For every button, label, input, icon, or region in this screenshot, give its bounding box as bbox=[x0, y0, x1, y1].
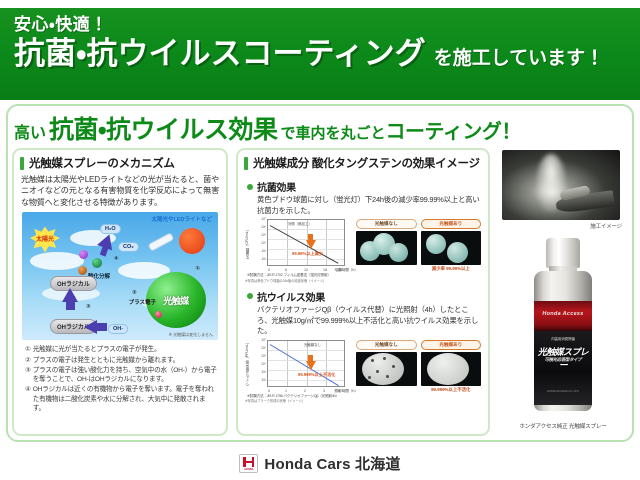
subtitle-middle: で車内を丸ごと bbox=[281, 122, 386, 143]
step-text: OHラジカルは近くの有機物から電子を奪います。電子を奪われた有機物は二酸化炭素や… bbox=[33, 385, 217, 414]
panel-mechanism: 光触媒スプレーのメカニズム 光触媒は太陽光やLEDライトなどの光が当たると、菌や… bbox=[12, 148, 228, 436]
subtitle-prefix: 高い bbox=[14, 119, 46, 143]
product-bottle: Honda Access 内装用消臭除菌 光触媒スプレー 可視光応答型タイプ H… bbox=[530, 238, 596, 416]
step-item: ② プラスの電子は発生とともに光触媒から離れます。 bbox=[25, 356, 217, 366]
particle-dot bbox=[92, 258, 102, 268]
grid-line bbox=[268, 370, 344, 371]
step-mark-3: ③ bbox=[86, 304, 91, 310]
chart-plot-area: 光触媒なし 99.999%以上不活化 0 1 2 3 4 照射時間（h） bbox=[267, 340, 345, 387]
plaque-dot bbox=[376, 370, 379, 373]
footer-bar: HONDA Honda Cars 北海道 bbox=[0, 446, 640, 480]
chart-y-tick: 10⁴ bbox=[261, 241, 266, 245]
bullet-dot-icon bbox=[247, 184, 253, 190]
panel-mechanism-title: 光触媒スプレーのメカニズム bbox=[29, 155, 175, 171]
header-title-tail: を施工しています！ bbox=[434, 43, 604, 70]
bottle-body: Honda Access 内装用消臭除菌 光触媒スプレー 可視光応答型タイプ H… bbox=[534, 271, 592, 411]
step-number: ④ bbox=[25, 385, 31, 414]
honda-logo-icon: HONDA bbox=[239, 454, 258, 473]
petri-dish-photo bbox=[356, 231, 417, 265]
antiviral-chart: ウイルス感染価（PFU/mL） 10⁷ 10⁶ 10⁵ 10⁴ 10³ 10² bbox=[247, 340, 351, 398]
step-text: 光触媒に光が当たるとプラスの電子が発生。 bbox=[33, 345, 217, 355]
antiviral-samples: 光触媒なし 光触媒あり bbox=[356, 340, 481, 393]
decrease-arrow-icon bbox=[306, 361, 316, 370]
header-title-main: 抗菌・抗ウイルスコーティング bbox=[14, 37, 426, 71]
step-number: ③ bbox=[25, 366, 31, 385]
chart-x-tick: 1 bbox=[285, 389, 287, 393]
chart-y-tick: 10⁵ bbox=[261, 233, 266, 237]
chart-annotation-top: 光触媒なし bbox=[304, 342, 321, 347]
chart-x-tick: 12 bbox=[304, 268, 308, 272]
colony-shape bbox=[426, 234, 446, 254]
effect-heading-antiviral: 抗ウイルス効果 bbox=[247, 289, 481, 304]
bottle-label-sub: 可視光応答型タイプ bbox=[534, 357, 592, 363]
step-item: ④ OHラジカルは近くの有機物から電子を奪います。電子を奪われた有機物は二酸化炭… bbox=[25, 385, 217, 414]
chart-x-tick: 2 bbox=[304, 389, 306, 393]
panel-effects-header: 光触媒成分 酸化タングステンの効果イメージ bbox=[238, 150, 488, 174]
step-item: ① 光触媒に光が当たるとプラスの電子が発生。 bbox=[25, 345, 217, 355]
chart-annotation-top: 対照（無加工） bbox=[288, 221, 312, 226]
chart-y-tick: 10⁶ bbox=[261, 225, 266, 229]
accent-bar-icon bbox=[244, 157, 248, 170]
oh-minus-bubble: OH- bbox=[108, 324, 128, 334]
colony-shape bbox=[389, 243, 408, 262]
chart-x-label: 照射時間（h） bbox=[334, 389, 358, 394]
step-mark-4: ④ bbox=[114, 256, 119, 262]
panel-product: 施工イメージ Honda Access 内装用消臭除菌 光触媒スプレー 可視光応… bbox=[498, 148, 628, 436]
chart-y-tick: 10² bbox=[261, 257, 266, 261]
effect-evidence-row: 生菌数（CFU/mL） 10⁷ 10⁶ 10⁵ 10⁴ 10³ 10² bbox=[247, 219, 481, 277]
diagram-note: ※ 光触媒は変化しません bbox=[169, 332, 213, 338]
arrow-left-icon bbox=[84, 320, 97, 334]
chart-annotation-result: 99.999%以上不活化 bbox=[298, 372, 335, 378]
panel-mechanism-header: 光触媒スプレーのメカニズム bbox=[14, 150, 226, 174]
sample-footnote: ※写真は黄色ブドウ球菌の24h後の培養状態（イメージ） bbox=[245, 280, 481, 284]
bottle-label-footer: HONDA ACCESS CO.,LTD. bbox=[534, 389, 592, 393]
chart-caption: ※試験方法：JIS R 1702 フィルム密着法（蛍光灯照射） bbox=[247, 273, 351, 277]
chart-x-tick: 0 bbox=[268, 268, 270, 272]
honda-logo-crossbar bbox=[243, 461, 254, 463]
plaque-dot bbox=[386, 375, 389, 378]
chart-caption: ※試験方法：JIS R 1756 バクテリオファージQβ（光照射4h） bbox=[247, 394, 351, 398]
particle-dot bbox=[79, 250, 88, 259]
arrow-up-icon bbox=[62, 288, 78, 302]
panel-effects-title: 光触媒成分 酸化タングステンの効果イメージ bbox=[253, 155, 480, 171]
effect-heading-antibacterial: 抗菌効果 bbox=[247, 179, 481, 194]
plaque-dot bbox=[371, 359, 374, 362]
header-title-row: 抗菌・抗ウイルスコーティング を施工しています！ bbox=[14, 37, 640, 71]
colony-shape bbox=[447, 242, 468, 263]
chart-y-label: ウイルス感染価（PFU/mL） bbox=[246, 342, 260, 386]
photocatalyst-label: 光触媒 bbox=[163, 294, 189, 307]
chart-y-tick: 10⁶ bbox=[261, 346, 266, 350]
bottle-cap bbox=[546, 238, 580, 268]
chart-y-tick: 10³ bbox=[261, 249, 266, 253]
plaque-dish-photo bbox=[421, 352, 482, 386]
mechanism-steps: ① 光触媒に光が当たるとプラスの電子が発生。 ② プラスの電子は発生とともに光触… bbox=[21, 345, 219, 413]
accent-bar-icon bbox=[20, 157, 24, 170]
photocatalyst-diagram: 太陽光 太陽光やLEDライトなど H₂O CO₂ 酸化分解 ④ ① ② ③ OH… bbox=[22, 212, 218, 340]
sample-column: 光触媒なし bbox=[356, 219, 417, 272]
subtitle-emphasis: 抗菌・抗ウイルス効果 bbox=[49, 110, 278, 146]
sample-column: 光触媒あり 減少率 99.99%以上 bbox=[421, 219, 482, 272]
led-light-label: 太陽光やLEDライトなど bbox=[151, 215, 212, 223]
sample-tag: 光触媒あり bbox=[421, 219, 482, 229]
co2-bubble: CO₂ bbox=[118, 242, 139, 252]
plus-electron-label: プラス電子 bbox=[129, 298, 156, 306]
header-banner: 安心・快適！ 抗菌・抗ウイルスコーティング を施工しています！ bbox=[0, 8, 640, 100]
panel-effects: 光触媒成分 酸化タングステンの効果イメージ 抗菌効果 黄色ブドウ球菌に対し（蛍光… bbox=[236, 148, 490, 436]
sun-label: 太陽光 bbox=[30, 234, 60, 243]
chart-x-tick: 0 bbox=[268, 389, 270, 393]
step-number: ② bbox=[25, 356, 31, 366]
step-mark-2: ② bbox=[132, 290, 137, 296]
effect-evidence-row: ウイルス感染価（PFU/mL） 10⁷ 10⁶ 10⁵ 10⁴ 10³ 10² bbox=[247, 340, 481, 398]
bottle-caption: ホンダアクセス純正 光触媒スプレー bbox=[498, 422, 628, 430]
panel-mechanism-body: 光触媒は太陽光やLEDライトなどの光が当たると、菌やニオイなどの元となる有害物質… bbox=[14, 174, 226, 414]
antibacterial-chart: 生菌数（CFU/mL） 10⁷ 10⁶ 10⁵ 10⁴ 10³ 10² bbox=[247, 219, 351, 277]
step-number: ① bbox=[25, 345, 31, 355]
plaque-dot bbox=[368, 376, 371, 379]
effect-description: バクテリオファージQβ（ウイルス代替）に光照射（4h）したところ、光触媒10g/… bbox=[257, 305, 481, 337]
plaque-dish-photo bbox=[356, 352, 417, 386]
poster-root: 安心・快適！ 抗菌・抗ウイルスコーティング を施工しています！ 高い 抗菌・抗ウ… bbox=[0, 0, 640, 480]
effect-description: 黄色ブドウ球菌に対し（蛍光灯）下24h後の減少率99.99%以上と高い抗菌力を示… bbox=[257, 195, 481, 216]
subtitle-emphasis-2: コーティング bbox=[386, 115, 502, 144]
led-lamp-icon bbox=[179, 228, 205, 254]
sample-footnote: ※写真はプラーク形成の状態（イメージ） bbox=[245, 400, 481, 404]
step-text: プラスの電子は発生とともに光触媒から離れます。 bbox=[33, 356, 217, 366]
decrease-arrow-icon bbox=[306, 240, 316, 249]
bullet-dot-icon bbox=[247, 293, 253, 299]
spray-application-photo bbox=[502, 150, 620, 220]
effect-title: 抗ウイルス効果 bbox=[257, 289, 325, 304]
led-tube-icon bbox=[148, 233, 175, 252]
step-text: プラスの電子は強い酸化力を持ち、空気中の水（OH-）から電子を奪うことで、OH-… bbox=[33, 366, 217, 385]
chart-y-tick: 10³ bbox=[261, 370, 266, 374]
sample-tag: 光触媒なし bbox=[356, 219, 417, 229]
particle-dot bbox=[78, 266, 87, 275]
chart-x-label: 培養時間（h） bbox=[334, 268, 358, 273]
sample-result: 減少率 99.99%以上 bbox=[421, 266, 482, 272]
dish-shape bbox=[427, 353, 469, 385]
sample-tag: 光触媒なし bbox=[356, 340, 417, 350]
panel-effects-body: 抗菌効果 黄色ブドウ球菌に対し（蛍光灯）下24h後の減少率99.99%以上と高い… bbox=[238, 179, 488, 404]
honda-logo-wordmark: HONDA bbox=[241, 468, 256, 471]
chart-y-tick: 10² bbox=[261, 378, 266, 382]
cloud-shape bbox=[30, 252, 84, 270]
sample-column: 光触媒なし bbox=[356, 340, 417, 393]
chart-y-tick: 10⁷ bbox=[261, 338, 266, 342]
chart-x-tick: 3 bbox=[323, 389, 325, 393]
sample-tag: 光触媒あり bbox=[421, 340, 482, 350]
bottle-label-small: 内装用消臭除菌 bbox=[534, 337, 592, 342]
effect-title: 抗菌効果 bbox=[257, 179, 296, 194]
step-item: ③ プラスの電子は強い酸化力を持ち、空気中の水（OH-）から電子を奪うことで、O… bbox=[25, 366, 217, 385]
chart-x-tick: 18 bbox=[323, 268, 327, 272]
plaque-dot bbox=[383, 357, 386, 360]
chart-annotation-result: 99.99%以上減少 bbox=[292, 251, 323, 257]
chart-trend-line bbox=[270, 226, 339, 265]
antibacterial-samples: 光触媒なし 光触媒あり 減少 bbox=[356, 219, 481, 272]
chart-y-tick: 10⁴ bbox=[261, 362, 266, 366]
header-tagline: 安心・快適！ bbox=[14, 14, 640, 35]
dealer-name: Honda Cars 北海道 bbox=[264, 453, 400, 474]
chart-y-tick: 10⁵ bbox=[261, 354, 266, 358]
sample-result: 99.999%以上不活化 bbox=[421, 387, 482, 393]
sample-column: 光触媒あり 99.999%以上不活化 bbox=[421, 340, 482, 393]
mechanism-description: 光触媒は太陽光やLEDライトなどの光が当たると、菌やニオイなどの元となる有害物質… bbox=[21, 174, 219, 208]
chart-plot-area: 対照（無加工） 99.99%以上減少 0 6 12 18 24 培養時間（h） bbox=[267, 219, 345, 266]
subtitle-suffix: ！ bbox=[501, 115, 521, 144]
spray-photo-caption: 施工イメージ bbox=[498, 222, 628, 230]
chart-x-tick: 6 bbox=[285, 268, 287, 272]
plaque-dot bbox=[392, 365, 395, 368]
chart-y-tick: 10⁷ bbox=[261, 217, 266, 221]
sun-icon: 太陽光 bbox=[30, 226, 60, 252]
bottle-brand-text: Honda Access bbox=[534, 311, 592, 317]
chart-y-label: 生菌数（CFU/mL） bbox=[246, 221, 260, 265]
petri-dish-photo bbox=[421, 231, 482, 265]
step-mark-1: ① bbox=[195, 266, 200, 272]
subtitle-row: 高い 抗菌・抗ウイルス効果 で車内を丸ごと コーティング ！ bbox=[14, 110, 630, 140]
